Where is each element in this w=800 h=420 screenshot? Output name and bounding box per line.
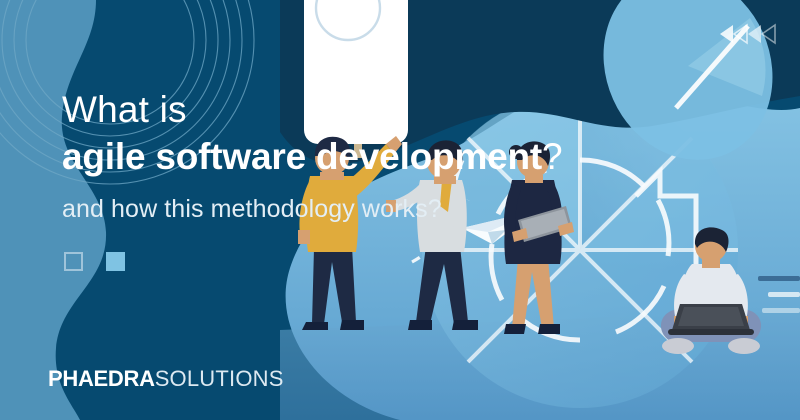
headline-question-mark: ? bbox=[542, 136, 562, 177]
logo-bold-text: PHAEDRA bbox=[48, 366, 155, 391]
filled-square-icon bbox=[106, 252, 125, 271]
headline-line-3: and how this methodology works? bbox=[62, 193, 542, 226]
logo-light-text: SOLUTIONS bbox=[155, 366, 284, 391]
phaedra-solutions-logo: PHAEDRASOLUTIONS bbox=[48, 366, 284, 392]
headline-block: What is agile software development? and … bbox=[62, 88, 542, 225]
headline-emphasis: agile software development bbox=[62, 136, 542, 177]
outlined-square-icon bbox=[64, 252, 83, 271]
square-decorations bbox=[64, 252, 125, 271]
headline-line-2: agile software development? bbox=[62, 134, 542, 179]
rewind-triangles-icon bbox=[718, 23, 778, 45]
banner-canvas: What is agile software development? and … bbox=[0, 0, 800, 420]
headline-line-1: What is bbox=[62, 88, 542, 132]
